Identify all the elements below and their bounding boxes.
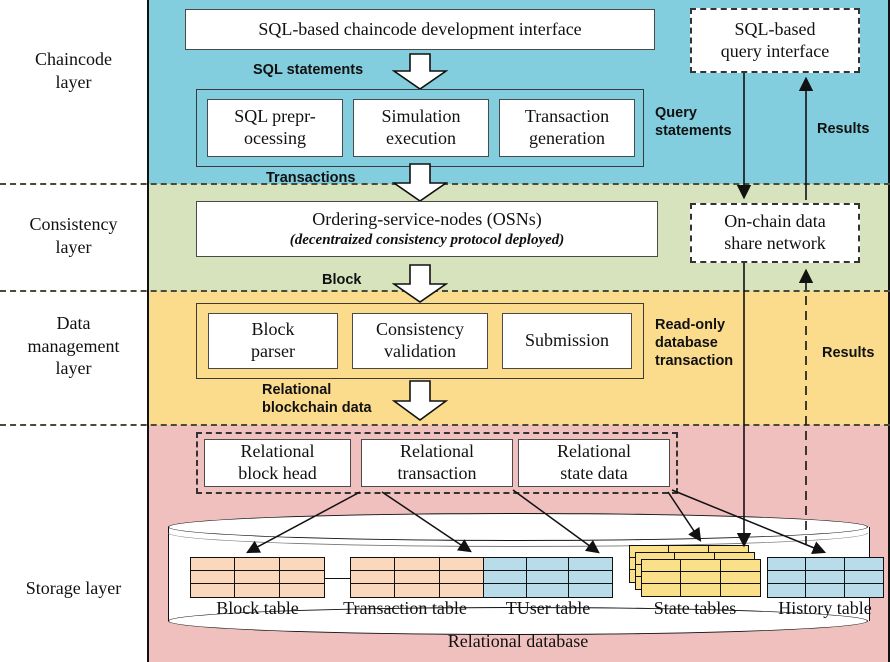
caption-history-table: History table [762, 598, 888, 619]
label-query-statements-line2: statements [655, 122, 732, 140]
caption-tuser-table: TUser table [483, 598, 613, 619]
module-block-parser-line1: Block [252, 319, 295, 341]
relational-block-head-line1: Relational [241, 441, 315, 463]
module-sql-preprocessing[interactable]: SQL prepr- ocessing [207, 99, 343, 157]
layer-label-storage-line1: Storage layer [0, 577, 147, 600]
layer-label-data-management: Data management layer [0, 312, 147, 380]
relational-transaction-line1: Relational [400, 441, 474, 463]
sql-query-interface-box[interactable]: SQL-based query interface [690, 8, 860, 73]
label-results-chaincode: Results [817, 120, 869, 138]
label-query-statements: Query statements [655, 104, 732, 140]
ordering-service-nodes-box[interactable]: Ordering-service-nodes (OSNs) (decentrai… [196, 201, 658, 257]
module-consistency-validation-line2: validation [384, 341, 456, 363]
layer-label-consistency-line1: Consistency [0, 213, 147, 236]
relational-state-data-line2: state data [560, 463, 627, 485]
label-readonly-line1: Read-only [655, 316, 733, 334]
history-table-grid[interactable] [767, 557, 884, 598]
layer-label-data-line1: Data [0, 312, 147, 335]
label-relational-blockchain-data: Relational blockchain data [262, 381, 372, 417]
block-table-grid[interactable] [190, 557, 325, 598]
arrow-block-down [392, 264, 448, 304]
module-block-parser-line2: parser [251, 341, 295, 363]
label-transactions: Transactions [266, 169, 355, 187]
label-readonly-line3: transaction [655, 352, 733, 370]
on-chain-data-share-network-box[interactable]: On-chain data share network [690, 203, 860, 263]
module-simulation-execution-line1: Simulation [381, 106, 460, 128]
state-tables-grid-front[interactable] [641, 559, 761, 597]
layer-label-chaincode-line2: layer [0, 71, 147, 94]
arrow-sql-statements-down [392, 53, 448, 91]
arrow-relational-blockchain-data-down [392, 380, 448, 422]
module-consistency-validation[interactable]: Consistency validation [352, 313, 488, 369]
layer-label-consistency: Consistency layer [0, 213, 147, 258]
label-results-data-management: Results [822, 344, 874, 362]
module-transaction-generation-line2: generation [529, 128, 605, 150]
module-consistency-validation-line1: Consistency [376, 319, 464, 341]
label-sql-statements: SQL statements [253, 61, 363, 79]
diagram-left-border [147, 0, 149, 662]
module-transaction-generation[interactable]: Transaction generation [499, 99, 635, 157]
module-sql-preprocessing-line1: SQL prepr- [234, 106, 315, 128]
osn-subtitle: (decentraized consistency protocol deplo… [290, 231, 565, 249]
table-link-1 [322, 578, 352, 579]
relational-transaction-line2: transaction [398, 463, 477, 485]
label-relational-blockchain-data-line2: blockchain data [262, 399, 372, 417]
relational-transaction-box[interactable]: Relational transaction [361, 439, 513, 487]
module-submission[interactable]: Submission [502, 313, 632, 369]
relational-state-data-line1: Relational [557, 441, 631, 463]
label-readonly-database-transaction: Read-only database transaction [655, 316, 733, 370]
relational-block-head-line2: block head [238, 463, 316, 485]
caption-relational-database: Relational database [168, 631, 868, 652]
module-transaction-generation-line1: Transaction [525, 106, 609, 128]
layer-label-chaincode: Chaincode layer [0, 48, 147, 93]
module-simulation-execution-line2: execution [386, 128, 456, 150]
relational-block-head-box[interactable]: Relational block head [204, 439, 351, 487]
osn-title: Ordering-service-nodes (OSNs) [312, 209, 541, 231]
architecture-diagram: Chaincode layer Consistency layer Data m… [0, 0, 890, 662]
layer-label-data-line3: layer [0, 357, 147, 380]
sql-chaincode-development-interface-box[interactable]: SQL-based chaincode development interfac… [185, 9, 655, 50]
caption-transaction-table: Transaction table [325, 598, 485, 619]
caption-block-table: Block table [190, 598, 325, 619]
layer-label-storage: Storage layer [0, 577, 147, 600]
module-sql-preprocessing-line2: ocessing [244, 128, 306, 150]
arrow-transactions-down [392, 163, 448, 203]
share-network-line1: On-chain data [724, 211, 825, 233]
relational-state-data-box[interactable]: Relational state data [518, 439, 670, 487]
layer-label-consistency-line2: layer [0, 236, 147, 259]
module-block-parser[interactable]: Block parser [208, 313, 338, 369]
sql-query-interface-line2: query interface [721, 41, 829, 63]
sql-query-interface-line1: SQL-based [735, 19, 816, 41]
separator-data-storage [0, 424, 890, 426]
tuser-table-grid[interactable] [483, 557, 613, 598]
label-query-statements-line1: Query [655, 104, 732, 122]
layer-label-chaincode-line1: Chaincode [0, 48, 147, 71]
transaction-table-grid[interactable] [350, 557, 485, 598]
share-network-line2: share network [724, 233, 825, 255]
label-readonly-line2: database [655, 334, 733, 352]
module-simulation-execution[interactable]: Simulation execution [353, 99, 489, 157]
layer-label-data-line2: management [0, 335, 147, 358]
label-relational-blockchain-data-line1: Relational [262, 381, 372, 399]
caption-state-tables: State tables [627, 598, 763, 619]
label-block: Block [322, 271, 362, 289]
